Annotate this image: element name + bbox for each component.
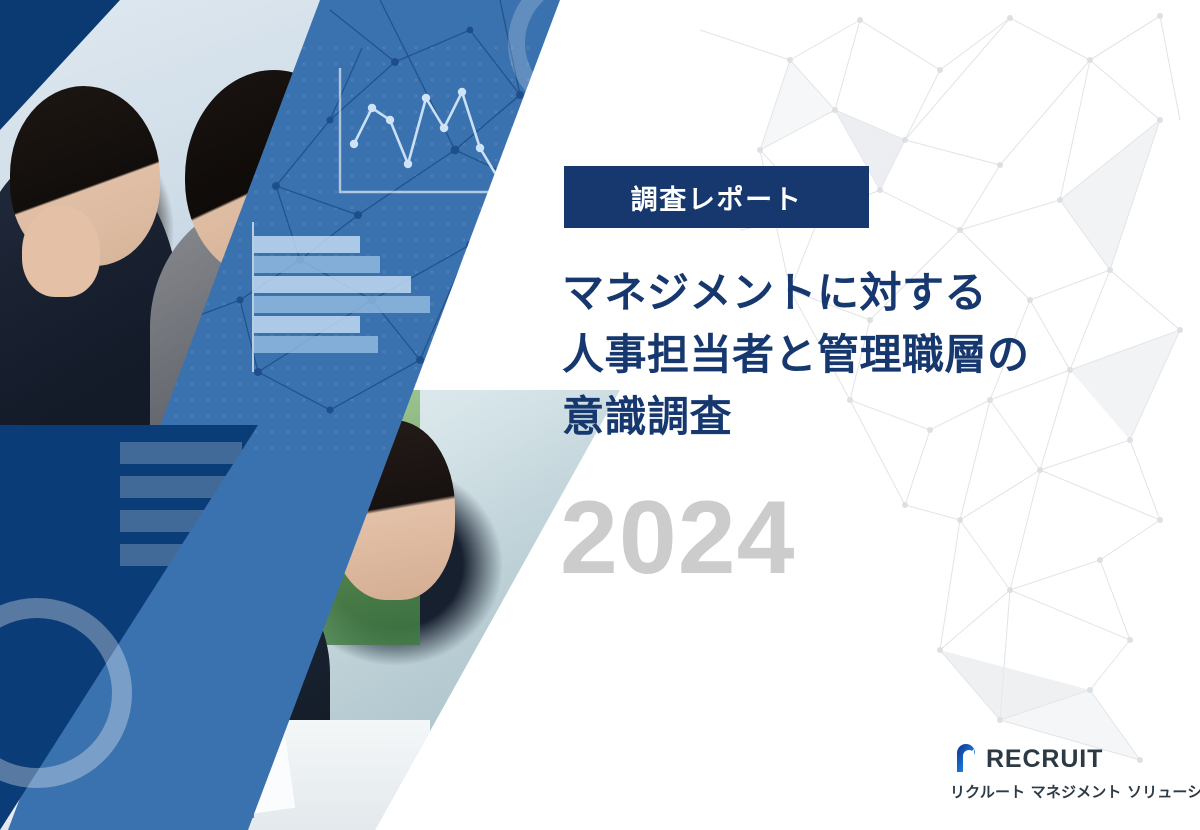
cover-content: 調査レポート マネジメントに対する 人事担当者と管理職層の 意識調査 2024	[0, 0, 1200, 830]
page-title-line-1: マネジメントに対する	[562, 262, 1122, 324]
report-cover-page: 調査レポート マネジメントに対する 人事担当者と管理職層の 意識調査 2024	[0, 0, 1200, 830]
recruit-arc-mark	[950, 740, 984, 774]
report-year: 2024	[560, 486, 796, 590]
recruit-logo-subtitle: リクルート マネジメント ソリューションズ	[950, 781, 1190, 802]
recruit-logo: RECRUIT リクルート マネジメント ソリューションズ	[950, 740, 1190, 802]
page-title: マネジメントに対する 人事担当者と管理職層の 意識調査	[562, 262, 1122, 448]
report-type-badge-label: 調査レポート	[631, 178, 803, 217]
page-title-line-3: 意識調査	[562, 386, 1122, 448]
report-type-badge: 調査レポート	[564, 166, 869, 228]
recruit-wordmark: RECRUIT	[986, 747, 1103, 772]
page-title-line-2: 人事担当者と管理職層の	[562, 324, 1122, 386]
